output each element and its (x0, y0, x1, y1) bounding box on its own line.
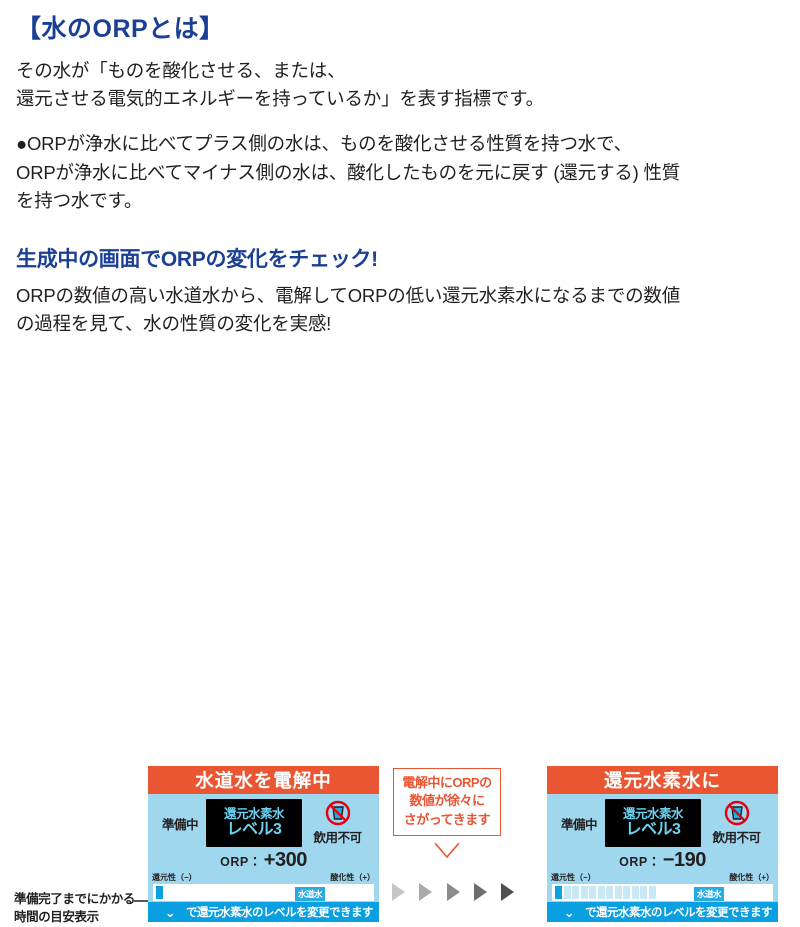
section-title-check: 生成中の画面でORPの変化をチェック! (16, 243, 786, 273)
meter-segment-active (555, 886, 562, 899)
caption-prep-time-line-1: 準備完了までにかかる (14, 892, 135, 906)
no-drink-indicator-after: 飲用不可 (701, 800, 772, 846)
device-panel-before: 水道水を電解中 準備中 還元水素水 レベル3 飲用不可 (148, 766, 379, 922)
meter-segment-active (156, 886, 163, 899)
orp-readout-after: ORP：−190 (547, 848, 778, 872)
no-drink-label-after: 飲用不可 (712, 827, 760, 846)
no-drink-label-before: 飲用不可 (313, 827, 361, 846)
meter-segment-inactive (623, 886, 630, 899)
scale-labels-before: 還元性（−） 酸化性（+） (148, 872, 379, 883)
meter-segment-inactive (564, 886, 571, 899)
meter-segment-inactive (640, 886, 647, 899)
orp-meter-segments-after (555, 886, 656, 899)
callout-orp-decreasing: 電解中にORPの 数値が徐々に さがってきます (393, 768, 501, 836)
lcd-level-before: レベル3 (227, 822, 282, 839)
meter-segment-inactive (572, 886, 579, 899)
panel-screen-after: 準備中 還元水素水 レベル3 飲用不可 ORP：−190 (547, 794, 778, 922)
scale-label-oxidation-after: 酸化性（+） (729, 872, 774, 883)
meter-segment-inactive (615, 886, 622, 899)
orp-meter-after: 水道水 (551, 883, 774, 902)
orp-value-before: +300 (264, 849, 307, 871)
meter-segment-inactive (598, 886, 605, 899)
progress-arrows (392, 883, 514, 901)
progress-arrow-icon (447, 883, 460, 901)
orp-label-before: ORP： (220, 855, 262, 869)
panel-footer-after[interactable]: ⌄ で還元水素水のレベルを変更できます (547, 902, 778, 922)
scale-labels-after: 還元性（−） 酸化性（+） (547, 872, 778, 883)
orp-meter-segments-before (156, 886, 163, 899)
status-label-before: 準備中 (154, 814, 206, 833)
paragraph-explanation-line-1: ●ORPが浄水に比べてプラス側の水は、ものを酸化させる性質を持つ水で、 (16, 133, 632, 154)
paragraph-definition-line-1: その水が「ものを酸化させる、または、 (16, 60, 345, 81)
chevron-down-icon: ⌄ (162, 906, 178, 919)
status-row-before: 準備中 還元水素水 レベル3 飲用不可 (148, 794, 379, 848)
progress-arrow-icon (392, 883, 405, 901)
tap-water-marker-before: 水道水 (295, 887, 325, 901)
lcd-display-before: 還元水素水 レベル3 (206, 799, 302, 847)
panel-header-after: 還元水素水に (547, 766, 778, 794)
meter-segment-inactive (649, 886, 656, 899)
no-drinking-icon (325, 800, 351, 826)
panel-screen-before: 準備中 還元水素水 レベル3 飲用不可 ORP：+300 (148, 794, 379, 922)
caption-prep-time-line-2: 時間の目安表示 (14, 910, 99, 924)
lcd-level-after: レベル3 (626, 822, 681, 839)
scale-label-reduction-before: 還元性（−） (152, 872, 197, 883)
scale-label-reduction-after: 還元性（−） (551, 872, 596, 883)
panel-footer-before[interactable]: ⌄ で還元水素水のレベルを変更できます (148, 902, 379, 922)
paragraph-process-line-1: ORPの数値の高い水道水から、電解してORPの低い還元水素水になるまでの数値 (16, 285, 680, 306)
progress-arrow-icon (501, 883, 514, 901)
device-panel-after: 還元水素水に 準備中 還元水素水 レベル3 飲用不可 (547, 766, 778, 922)
no-drinking-icon (724, 800, 750, 826)
progress-arrow-icon (474, 883, 487, 901)
meter-segment-inactive (632, 886, 639, 899)
paragraph-process-line-2: の過程を見て、水の性質の変化を実感! (16, 313, 331, 334)
panel-footer-label-after: で還元水素水のレベルを変更できます (585, 904, 772, 920)
orp-value-after: −190 (663, 849, 706, 871)
orp-readout-before: ORP：+300 (148, 848, 379, 872)
callout-line-3: さがってきます (404, 812, 490, 827)
lcd-water-type-before: 還元水素水 (224, 808, 284, 821)
meter-segment-inactive (589, 886, 596, 899)
scale-label-oxidation-before: 酸化性（+） (330, 872, 375, 883)
chevron-down-icon: ⌄ (561, 906, 577, 919)
callout-line-2: 数値が徐々に (409, 793, 484, 808)
status-row-after: 準備中 還元水素水 レベル3 飲用不可 (547, 794, 778, 848)
status-label-after: 準備中 (553, 814, 605, 833)
device-comparison-figure: 準備完了までにかかる 時間の目安表示 水道水を電解中 準備中 還元水素水 レベル… (0, 378, 800, 560)
meter-segment-inactive (606, 886, 613, 899)
lcd-display-after: 還元水素水 レベル3 (605, 799, 701, 847)
caption-prep-time: 準備完了までにかかる 時間の目安表示 (14, 891, 142, 927)
meter-segment-inactive (581, 886, 588, 899)
paragraph-explanation-line-2: ORPが浄水に比べてマイナス側の水は、酸化したものを元に戻す (還元する) 性質 (16, 162, 680, 183)
article-body: 【水のORPとは】 その水が「ものを酸化させる、または、 還元させる電気的エネル… (0, 0, 800, 338)
page-title: 【水のORPとは】 (16, 14, 786, 45)
paragraph-definition-line-2: 還元させる電気的エネルギーを持っているか」を表す指標です。 (16, 88, 544, 109)
panel-footer-label-before: で還元水素水のレベルを変更できます (186, 904, 373, 920)
paragraph-explanation: ●ORPが浄水に比べてプラス側の水は、ものを酸化させる性質を持つ水で、 ORPが… (16, 130, 786, 214)
paragraph-process: ORPの数値の高い水道水から、電解してORPの低い還元水素水になるまでの数値 の… (16, 282, 786, 338)
progress-arrow-icon (419, 883, 432, 901)
callout-tail-icon (433, 842, 461, 858)
callout-line-1: 電解中にORPの (402, 775, 491, 790)
paragraph-definition: その水が「ものを酸化させる、または、 還元させる電気的エネルギーを持っているか」… (16, 57, 786, 113)
orp-label-after: ORP： (619, 855, 661, 869)
lcd-water-type-after: 還元水素水 (623, 808, 683, 821)
no-drink-indicator-before: 飲用不可 (302, 800, 373, 846)
paragraph-explanation-line-3: を持つ水です。 (16, 190, 142, 211)
panel-header-before: 水道水を電解中 (148, 766, 379, 794)
tap-water-marker-after: 水道水 (694, 887, 724, 901)
orp-meter-before: 水道水 (152, 883, 375, 902)
